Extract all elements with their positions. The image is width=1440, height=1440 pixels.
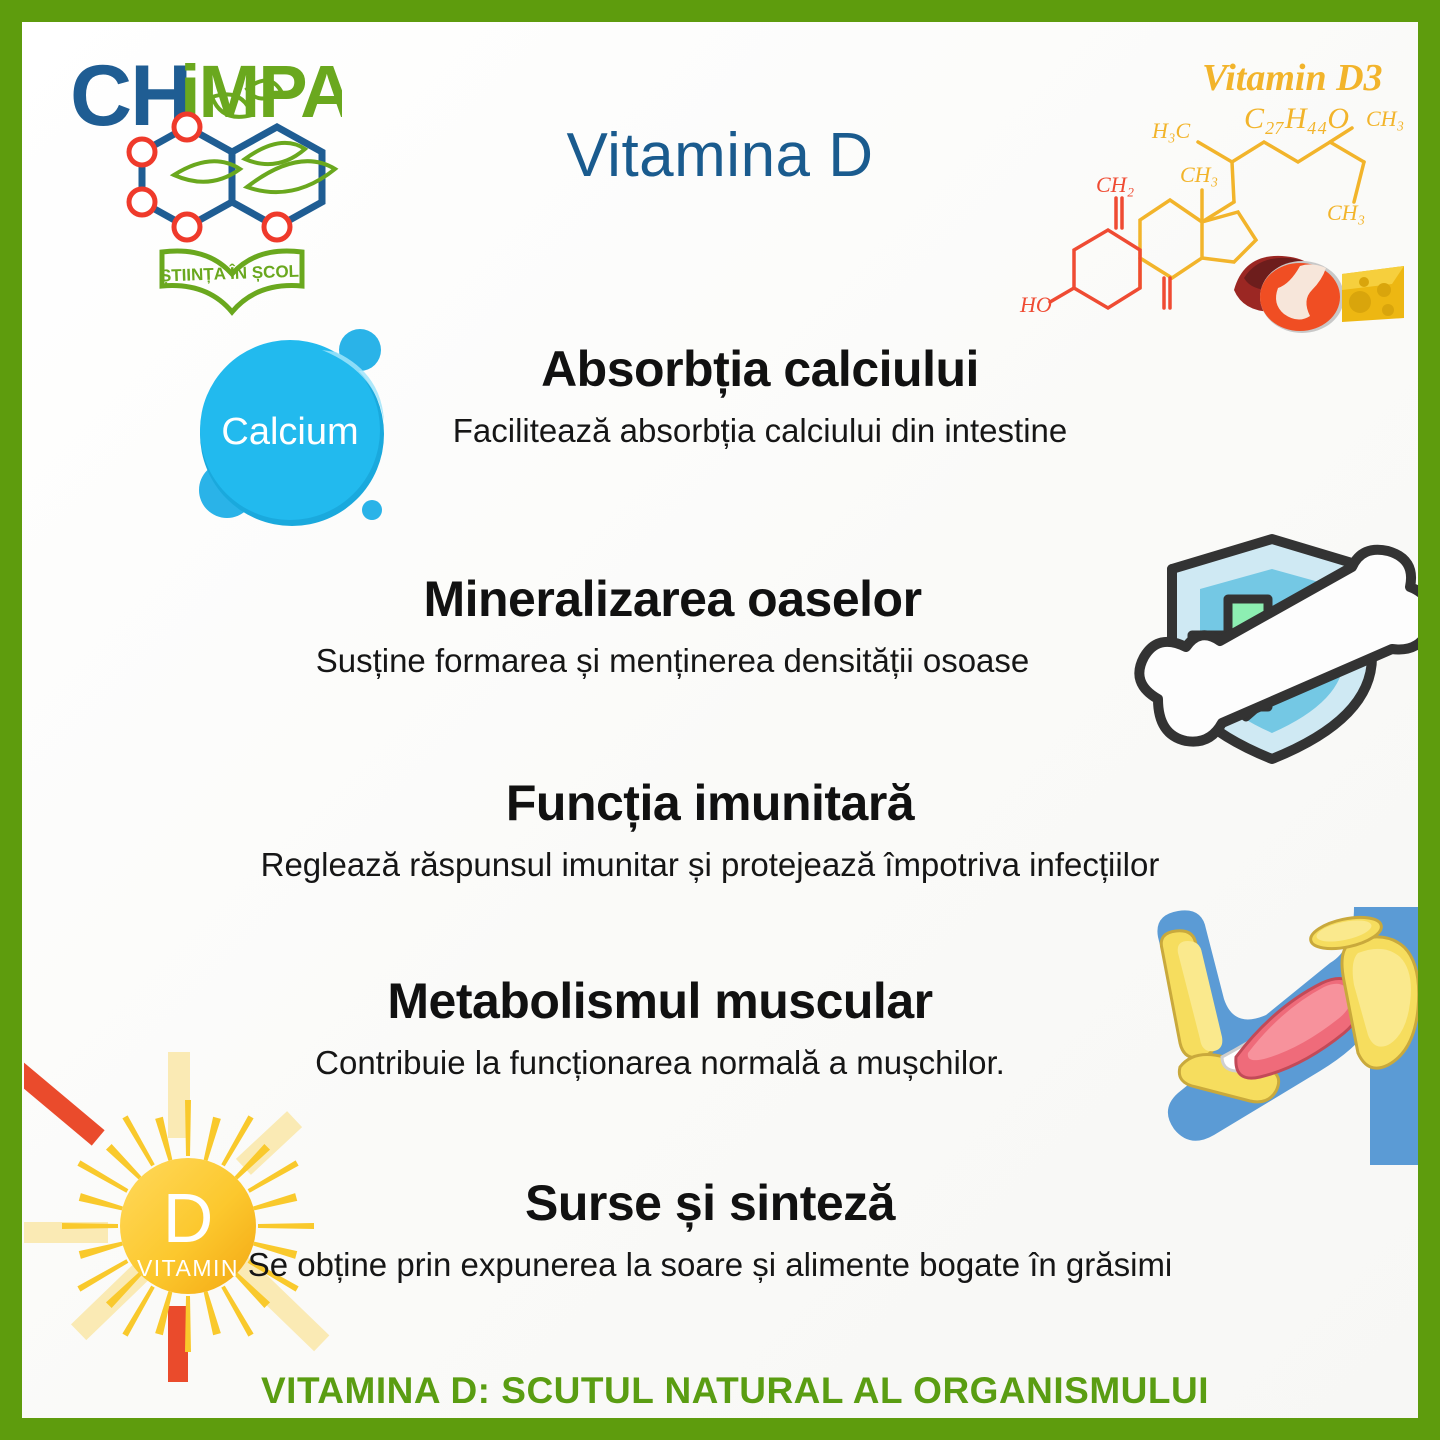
section-heading-calcium: Absorbția calciului [22, 340, 1418, 398]
logo-book-text: ȘTIINȚA ÎN ȘCOLI [160, 261, 304, 285]
section-subtext-calcium: Facilitează absorbția calciului din inte… [22, 412, 1418, 450]
section-immune: Funcția imunitară Reglează răspunsul imu… [22, 774, 1418, 884]
section-subtext-immune: Reglează răspunsul imunitar și protejeaz… [22, 846, 1418, 884]
vitamin-d3-molecule-illustration: Vitamin D3 C₂₇H₄₄O H₃C CH₃ CH₃ CH₃ [1012, 50, 1432, 335]
section-heading-bones: Mineralizarea oaselor [22, 570, 1418, 628]
food-sources-illustration [1234, 256, 1404, 333]
section-heading-immune: Funcția imunitară [22, 774, 1418, 832]
label-ch3-right-lower: CH₃ [1327, 200, 1365, 225]
infographic-poster: CH iMPACT [0, 0, 1440, 1440]
section-heading-muscle: Metabolismul muscular [22, 972, 1418, 1030]
section-subtext-sources: Se obține prin expunerea la soare și ali… [22, 1246, 1418, 1284]
molecule-name-label: Vitamin D3 [1202, 57, 1383, 99]
section-sources: Surse și sinteză Se obține prin expunere… [22, 1174, 1418, 1284]
label-ho: HO [1019, 292, 1052, 317]
page-title: Vitamina D [22, 120, 1418, 191]
section-bones: Mineralizarea oaselor Susține formarea ș… [22, 570, 1418, 680]
section-heading-sources: Surse și sinteză [22, 1174, 1418, 1232]
footer-tagline: VITAMINA D: SCUTUL NATURAL AL ORGANISMUL… [22, 1370, 1418, 1412]
section-subtext-bones: Susține formarea și menținerea densități… [22, 642, 1418, 680]
section-calcium: Absorbția calciului Facilitează absorbți… [22, 340, 1418, 450]
